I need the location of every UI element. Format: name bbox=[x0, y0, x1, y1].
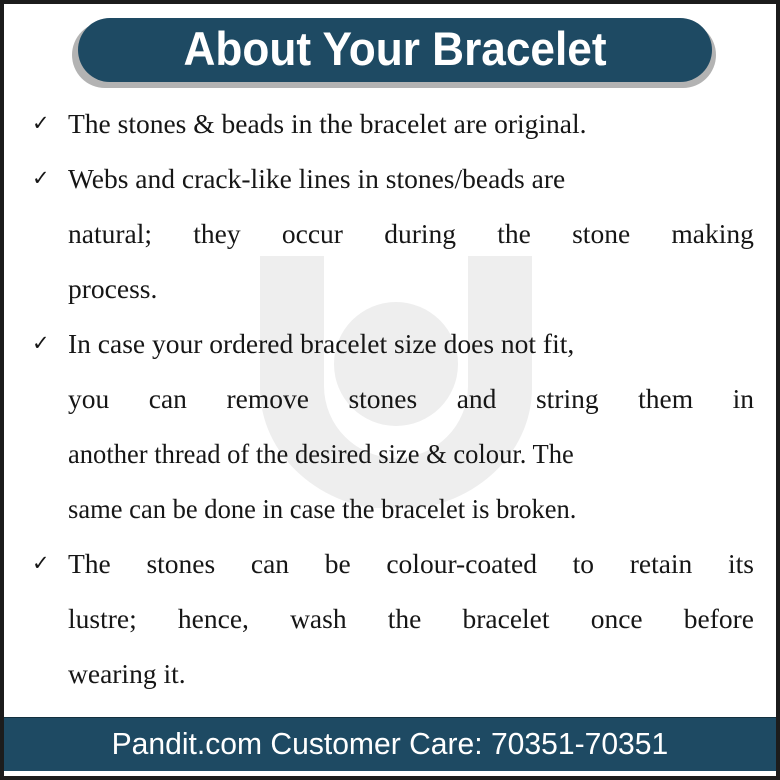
footer-bar: Pandit.com Customer Care: 70351-70351 bbox=[4, 717, 776, 771]
text-line: another thread of the desired size & col… bbox=[68, 426, 730, 481]
word: wash bbox=[290, 591, 347, 646]
word: the bbox=[388, 591, 422, 646]
text-line: The stones & beads in the bracelet are o… bbox=[68, 96, 754, 151]
text-line: The stones can be colour-coated to retai… bbox=[68, 536, 754, 591]
check-icon: ✓ bbox=[18, 536, 68, 591]
text-line: process. bbox=[68, 261, 754, 316]
word: to bbox=[573, 536, 594, 591]
list-item: ✓ The stones can be colour-coated to ret… bbox=[18, 536, 760, 701]
text-line: you can remove stones and string them in bbox=[68, 371, 754, 426]
word: lustre; bbox=[68, 591, 137, 646]
check-icon: ✓ bbox=[18, 96, 68, 151]
list-item-text: The stones can be colour-coated to retai… bbox=[68, 536, 760, 701]
word: stones bbox=[146, 536, 215, 591]
word: natural; bbox=[68, 206, 152, 261]
word: bracelet bbox=[463, 591, 550, 646]
about-your-bracelet-card: About Your Bracelet ✓ The stones & beads… bbox=[0, 0, 780, 780]
list-item: ✓ The stones & beads in the bracelet are… bbox=[18, 96, 760, 151]
word: during bbox=[384, 206, 456, 261]
word: can bbox=[251, 536, 289, 591]
check-icon: ✓ bbox=[18, 151, 68, 206]
header: About Your Bracelet bbox=[4, 4, 776, 96]
word: stone bbox=[572, 206, 630, 261]
check-icon: ✓ bbox=[18, 316, 68, 371]
list-item: ✓ In case your ordered bracelet size doe… bbox=[18, 316, 760, 536]
word: occur bbox=[282, 206, 343, 261]
word: they bbox=[193, 206, 240, 261]
title-banner: About Your Bracelet bbox=[72, 18, 716, 88]
page-title: About Your Bracelet bbox=[183, 25, 606, 75]
word: remove bbox=[226, 371, 308, 426]
word: before bbox=[684, 591, 754, 646]
text-line: wearing it. bbox=[68, 646, 754, 701]
word: the bbox=[497, 206, 531, 261]
word: string bbox=[536, 371, 599, 426]
word: its bbox=[728, 536, 754, 591]
word: making bbox=[671, 206, 754, 261]
word: retain bbox=[630, 536, 693, 591]
list-item-text: In case your ordered bracelet size does … bbox=[68, 316, 760, 536]
list-item: ✓ Webs and crack-like lines in stones/be… bbox=[18, 151, 760, 316]
word: stones bbox=[348, 371, 417, 426]
title-banner-body: About Your Bracelet bbox=[78, 18, 712, 82]
word: hence, bbox=[178, 591, 249, 646]
text-line: natural; they occur during the stone mak… bbox=[68, 206, 754, 261]
word: you bbox=[68, 371, 109, 426]
customer-care-text: Pandit.com Customer Care: 70351-70351 bbox=[112, 726, 669, 764]
text-line: Webs and crack-like lines in stones/bead… bbox=[68, 151, 754, 206]
word: be bbox=[325, 536, 351, 591]
word: and bbox=[457, 371, 497, 426]
word: once bbox=[591, 591, 643, 646]
list-item-text: The stones & beads in the bracelet are o… bbox=[68, 96, 760, 151]
list-item-text: Webs and crack-like lines in stones/bead… bbox=[68, 151, 760, 316]
word: them bbox=[638, 371, 693, 426]
word: The bbox=[68, 536, 111, 591]
text-line: same can be done in case the bracelet is… bbox=[68, 481, 730, 536]
text-line: In case your ordered bracelet size does … bbox=[68, 316, 754, 371]
bullet-list: ✓ The stones & beads in the bracelet are… bbox=[4, 96, 776, 701]
word: can bbox=[149, 371, 187, 426]
text-line: lustre; hence, wash the bracelet once be… bbox=[68, 591, 754, 646]
word: colour-coated bbox=[386, 536, 537, 591]
word: in bbox=[733, 371, 754, 426]
